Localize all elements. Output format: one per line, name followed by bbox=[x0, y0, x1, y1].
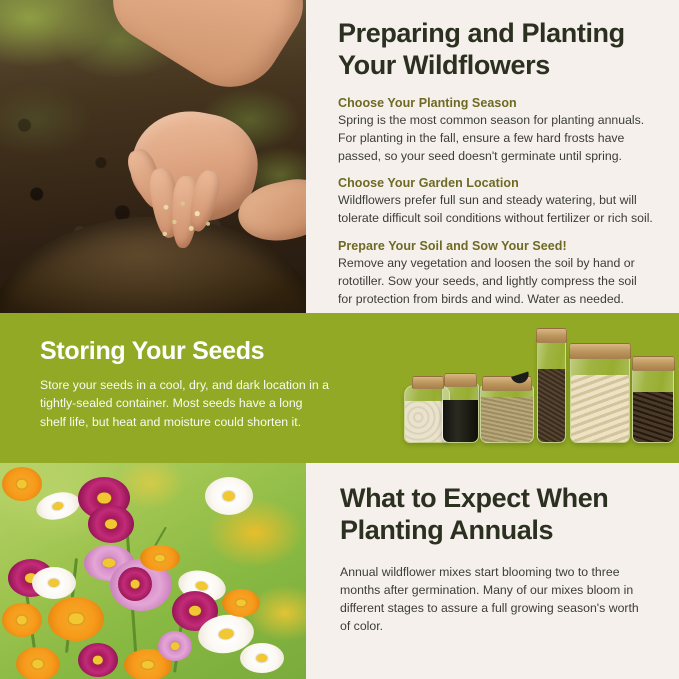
flower-magenta bbox=[78, 643, 118, 677]
flower-orange bbox=[222, 589, 260, 617]
subhead-planting-season: Choose Your Planting Season bbox=[338, 96, 653, 110]
cork-lid bbox=[536, 328, 567, 343]
flower-magenta bbox=[88, 505, 134, 543]
separator-bottom-right bbox=[306, 463, 308, 679]
flower-orange bbox=[140, 545, 180, 571]
flower-white bbox=[205, 477, 253, 515]
cork-lid bbox=[632, 356, 675, 371]
body-prepare-soil: Remove any vegetation and loosen the soi… bbox=[338, 254, 653, 309]
page-title: Preparing and Planting Your Wildflowers bbox=[338, 18, 653, 82]
wildflower-planting-infographic: Preparing and Planting Your Wildflowers … bbox=[0, 0, 679, 679]
body-planting-season: Spring is the most common season for pla… bbox=[338, 111, 653, 166]
subhead-prepare-soil: Prepare Your Soil and Sow Your Seed! bbox=[338, 239, 653, 253]
expect-heading: What to Expect When Planting Annuals bbox=[340, 483, 645, 547]
separator-top-right bbox=[306, 0, 309, 313]
flower-orange bbox=[2, 467, 42, 501]
wildflower-photo bbox=[0, 463, 308, 679]
cork-lid bbox=[444, 373, 477, 387]
section-storing-your-seeds: Storing Your Seeds Store your seeds in a… bbox=[0, 313, 679, 463]
flower-white bbox=[240, 643, 284, 673]
flower-magenta bbox=[118, 567, 152, 601]
cork-lid bbox=[412, 376, 444, 389]
section-preparing-and-planting: Preparing and Planting Your Wildflowers … bbox=[0, 0, 679, 313]
seed-jars-photo bbox=[382, 319, 662, 459]
flower-orange bbox=[2, 603, 42, 637]
seed-jar bbox=[537, 337, 566, 443]
section-what-to-expect: What to Expect When Planting Annuals Ann… bbox=[0, 463, 679, 679]
flower-pink bbox=[158, 631, 192, 661]
flower-white bbox=[32, 567, 76, 599]
expect-body: Annual wildflower mixes start blooming t… bbox=[340, 563, 645, 636]
jar-contents-black-seeds bbox=[443, 400, 478, 442]
subhead-garden-location: Choose Your Garden Location bbox=[338, 176, 653, 190]
seed-jar bbox=[570, 353, 630, 443]
jar-contents-sunflower-seeds bbox=[633, 392, 673, 442]
jar-contents-dark-seeds bbox=[538, 369, 565, 442]
seed-jar bbox=[632, 365, 674, 443]
jar-contents-tan-grain bbox=[481, 397, 533, 442]
expect-text-panel: What to Expect When Planting Annuals Ann… bbox=[308, 463, 679, 679]
jar-contents-pumpkin-seeds bbox=[571, 375, 629, 442]
storing-text-panel: Storing Your Seeds Store your seeds in a… bbox=[40, 337, 330, 431]
body-garden-location: Wildflowers prefer full sun and steady w… bbox=[338, 191, 653, 227]
seeds-in-hand bbox=[160, 198, 220, 244]
flower-orange bbox=[16, 647, 60, 679]
preparing-text-panel: Preparing and Planting Your Wildflowers … bbox=[306, 0, 679, 313]
cork-lid bbox=[569, 343, 631, 359]
storing-heading: Storing Your Seeds bbox=[40, 337, 330, 366]
seed-jar bbox=[480, 385, 534, 443]
flower-orange bbox=[48, 597, 104, 641]
soil-planting-photo bbox=[0, 0, 306, 313]
storing-body: Store your seeds in a cool, dry, and dar… bbox=[40, 376, 330, 431]
seed-jar bbox=[442, 383, 479, 443]
